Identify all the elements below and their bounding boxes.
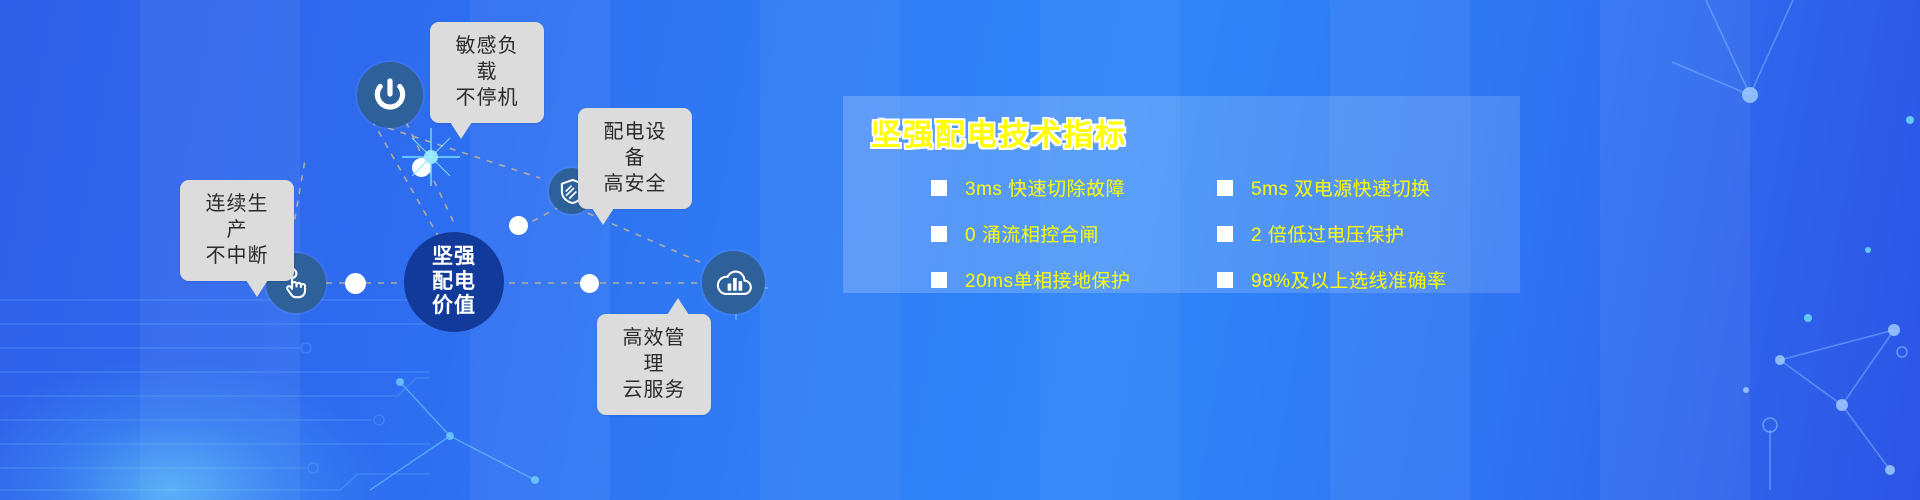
spec-item: 2 倍低过电压保护: [1217, 220, 1511, 247]
connector-dot: [509, 216, 528, 235]
callout-line-1: 高效管理: [613, 325, 695, 377]
callout-efficient-management[interactable]: 高效管理 云服务: [597, 314, 711, 415]
bubble-tail: [450, 122, 472, 139]
spec-text: 5ms 双电源快速切换: [1251, 174, 1431, 201]
spec-text: 20ms单相接地保护: [965, 266, 1130, 293]
callout-line-2: 不中断: [196, 243, 278, 269]
spec-item: 0 涌流相控合闸: [931, 220, 1217, 247]
callout-line-1: 配电设备: [594, 119, 676, 171]
spec-text: 98%及以上选线准确率: [1251, 266, 1447, 293]
callout-line-2: 云服务: [613, 377, 695, 403]
cloud-chart-icon: [714, 263, 754, 303]
bubble-tail: [667, 298, 689, 315]
bullet-square-icon: [1217, 272, 1233, 288]
hub-line-3: 价值: [432, 294, 476, 319]
bullet-square-icon: [931, 226, 947, 242]
tech-spec-panel: 坚强配电技术指标 3ms 快速切除故障 5ms 双电源快速切换 0 涌流相控合闸…: [843, 96, 1520, 293]
power-icon: [371, 76, 409, 114]
connector-dot: [345, 273, 366, 294]
callout-continuous-production[interactable]: 连续生产 不中断: [180, 180, 294, 281]
callout-line-2: 高安全: [594, 171, 676, 197]
bullet-square-icon: [1217, 226, 1233, 242]
value-diagram: 坚强 配电 价值 敏感负载 不停机 配电设备 高安全 连续生产 不中断 高效管理…: [0, 0, 960, 500]
node-cloud-analytics[interactable]: [702, 251, 765, 314]
spec-text: 2 倍低过电压保护: [1251, 220, 1404, 247]
node-power[interactable]: [357, 62, 423, 128]
bubble-tail: [246, 280, 268, 297]
spec-list: 3ms 快速切除故障 5ms 双电源快速切换 0 涌流相控合闸 2 倍低过电压保…: [931, 174, 1511, 293]
panel-title: 坚强配电技术指标: [871, 110, 1127, 154]
spec-item: 20ms单相接地保护: [931, 266, 1217, 293]
spec-item: 5ms 双电源快速切换: [1217, 174, 1511, 201]
spec-item: 3ms 快速切除故障: [931, 174, 1217, 201]
bubble-tail: [592, 208, 614, 225]
connector-dot: [580, 274, 599, 293]
network-decoration-right: [1450, 0, 1920, 500]
bullet-square-icon: [1217, 180, 1233, 196]
callout-sensitive-load[interactable]: 敏感负载 不停机: [430, 22, 544, 123]
hub-line-1: 坚强: [432, 245, 476, 270]
callout-line-1: 连续生产: [196, 191, 278, 243]
spec-text: 3ms 快速切除故障: [965, 174, 1125, 201]
hub-line-2: 配电: [432, 270, 476, 295]
hub-core: 坚强 配电 价值: [404, 232, 504, 332]
bullet-square-icon: [931, 272, 947, 288]
callout-line-2: 不停机: [446, 85, 528, 111]
banner-stage: 坚强 配电 价值 敏感负载 不停机 配电设备 高安全 连续生产 不中断 高效管理…: [0, 0, 1920, 500]
bullet-square-icon: [931, 180, 947, 196]
callout-line-1: 敏感负载: [446, 33, 528, 85]
spec-text: 0 涌流相控合闸: [965, 220, 1099, 247]
spec-item: 98%及以上选线准确率: [1217, 266, 1511, 293]
connector-dot: [412, 158, 431, 177]
callout-distribution-safety[interactable]: 配电设备 高安全: [578, 108, 692, 209]
